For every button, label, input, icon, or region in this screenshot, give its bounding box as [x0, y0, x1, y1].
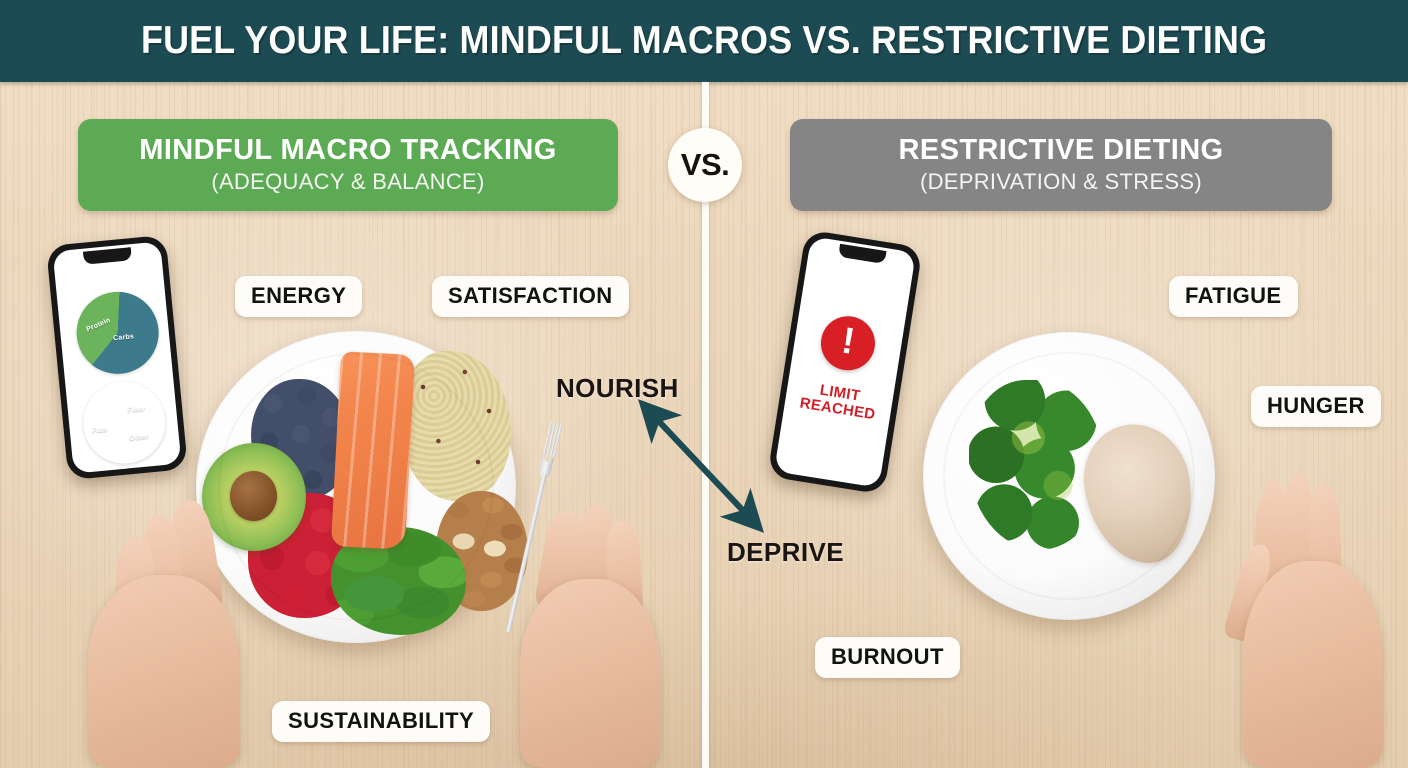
palm: [88, 575, 240, 768]
chip-energy: ENERGY: [235, 276, 362, 317]
pie-slice-label-fats: Fats: [92, 426, 108, 434]
banner-right-title: RESTRICTIVE DIETING: [898, 135, 1223, 165]
exclamation-glyph: !: [840, 325, 857, 359]
palm: [520, 579, 660, 768]
blueberries: [251, 379, 351, 499]
phone-notch-left: [83, 247, 132, 264]
header-bar: FUEL YOUR LIFE: MINDFUL MACROS VS. RESTR…: [0, 0, 1408, 82]
vs-badge-label: VS.: [681, 147, 729, 183]
mixed-greens: [331, 527, 466, 635]
chip-sustainability: SUSTAINABILITY: [272, 701, 490, 742]
pie-chart-nutrients-bottom: Fats Fiber Other: [80, 378, 169, 467]
limit-reached-alert-text: LIMIT REACHED: [784, 377, 894, 426]
page-title: FUEL YOUR LIFE: MINDFUL MACROS VS. RESTR…: [141, 19, 1267, 63]
pie-slice-label-carbs: Carbs: [113, 333, 134, 342]
chip-burnout: BURNOUT: [815, 637, 960, 678]
banner-left-subtitle: (ADEQUACY & BALANCE): [211, 169, 484, 195]
balanced-meal-plate: [196, 331, 516, 643]
banner-mindful-macro-tracking: MINDFUL MACRO TRACKING (ADEQUACY & BALAN…: [78, 119, 618, 211]
pie-chart-macros-top: Carbs Protein: [73, 288, 162, 377]
macro-tracking-phone[interactable]: Carbs Protein Fats Fiber Other: [46, 235, 188, 480]
hand-left-holding-plate: [88, 500, 240, 768]
banner-left-title: MINDFUL MACRO TRACKING: [139, 135, 556, 165]
phone-notch-right: [838, 244, 886, 264]
hand-holding-fork: [520, 505, 660, 768]
chip-satisfaction: SATISFACTION: [432, 276, 629, 317]
restrictive-meal-plate: [923, 332, 1215, 620]
label-nourish: NOURISH: [556, 373, 679, 404]
chip-hunger: HUNGER: [1251, 386, 1381, 427]
banner-restrictive-dieting: RESTRICTIVE DIETING (DEPRIVATION & STRES…: [790, 119, 1332, 211]
pie-slice-label-fiber: Fiber: [127, 406, 146, 415]
pie-slice-label-protein: Protein: [85, 317, 111, 334]
chip-fatigue: FATIGUE: [1169, 276, 1298, 317]
exclamation-mark-icon: !: [817, 312, 879, 374]
palm: [1243, 561, 1383, 768]
salmon-fillet: [331, 351, 415, 550]
chicken-breast: [1077, 417, 1200, 570]
infographic-canvas: FUEL YOUR LIFE: MINDFUL MACROS VS. RESTR…: [0, 0, 1408, 768]
banner-right-subtitle: (DEPRIVATION & STRESS): [920, 169, 1202, 195]
raspberries: [248, 493, 368, 618]
pie-slice-label-other: Other: [129, 433, 149, 442]
phone-left-screen: Carbs Protein Fats Fiber Other: [53, 241, 182, 473]
hand-resting-on-table: [1243, 480, 1383, 768]
vs-badge: VS.: [668, 128, 742, 202]
label-deprive: DEPRIVE: [727, 537, 844, 568]
broccoli-florets: [969, 380, 1104, 550]
